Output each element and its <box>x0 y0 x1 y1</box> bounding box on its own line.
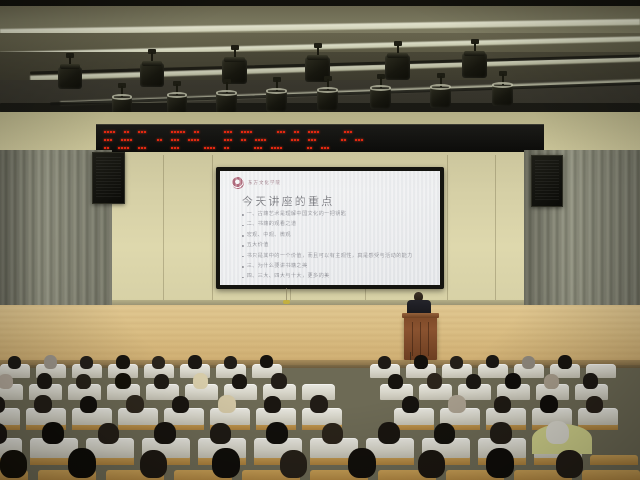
wall-panel-seam <box>163 155 164 303</box>
bullet-text: 五大价值 <box>247 242 269 249</box>
slide-logo-text: 东方文化学院 <box>248 180 281 186</box>
lectern-top <box>402 313 439 318</box>
bullet-icon <box>242 214 244 216</box>
list-item: 书只是其中的一个价值，而且可以有主观性，真是感受与活动的能力 <box>242 253 430 260</box>
list-item: 宏观、中观、微观 <box>242 232 430 239</box>
slide-surface: 东方文化学院 今天讲座的重点 一、古籍艺术是理解中国文化的一把钥匙 二、书籍的观… <box>220 171 440 285</box>
bullet-icon <box>242 235 244 237</box>
slide-title: 今天讲座的重点 <box>242 193 334 209</box>
bullet-text: 四、三大、四大与十大，更多的美 <box>247 273 330 280</box>
audience-area <box>0 352 640 480</box>
list-item: 五大价值 <box>242 242 430 249</box>
slide-logo: 东方文化学院 <box>232 177 281 189</box>
list-item: 一、古籍艺术是理解中国文化的一把钥匙 <box>242 211 430 218</box>
stage-prop <box>283 300 290 304</box>
bullet-icon <box>242 277 244 279</box>
bullet-text: 二、书籍的观看之道 <box>247 221 297 228</box>
auditorium-photo: 东方文化学院 今天讲座的重点 一、古籍艺术是理解中国文化的一把钥匙 二、书籍的观… <box>0 0 640 480</box>
bullet-text: 一、古籍艺术是理解中国文化的一把钥匙 <box>247 211 347 218</box>
list-item: 四、三大、四大与十大，更多的美 <box>242 273 430 280</box>
slide-bullet-list: 一、古籍艺术是理解中国文化的一把钥匙 二、书籍的观看之道 宏观、中观、微观 五大… <box>242 211 430 284</box>
bullet-text: 书只是其中的一个价值，而且可以有主观性，真是感受与活动的能力 <box>247 253 413 260</box>
bullet-icon <box>242 266 244 268</box>
lectern-slat <box>412 322 413 356</box>
institution-seal-icon <box>232 177 244 189</box>
list-item: 二、书籍的观看之道 <box>242 221 430 228</box>
lectern-slat <box>428 322 429 356</box>
wall-panel-seam <box>447 155 448 303</box>
pa-speaker-left <box>92 152 125 204</box>
bullet-icon <box>242 245 244 247</box>
pa-speaker-right <box>531 155 563 207</box>
bullet-text: 宏观、中观、微观 <box>247 232 291 239</box>
wall-panel-seam <box>495 155 496 303</box>
lectern-slat <box>420 322 421 356</box>
projection-screen: 东方文化学院 今天讲座的重点 一、古籍艺术是理解中国文化的一把钥匙 二、书籍的观… <box>216 167 444 289</box>
list-item: 三、为什么要讲书籍之美 <box>242 263 430 270</box>
bullet-icon <box>242 225 244 227</box>
wall-panel-seam <box>212 155 213 303</box>
bullet-icon <box>242 256 244 258</box>
led-message-board <box>96 124 544 155</box>
bullet-text: 三、为什么要讲书籍之美 <box>247 263 308 270</box>
